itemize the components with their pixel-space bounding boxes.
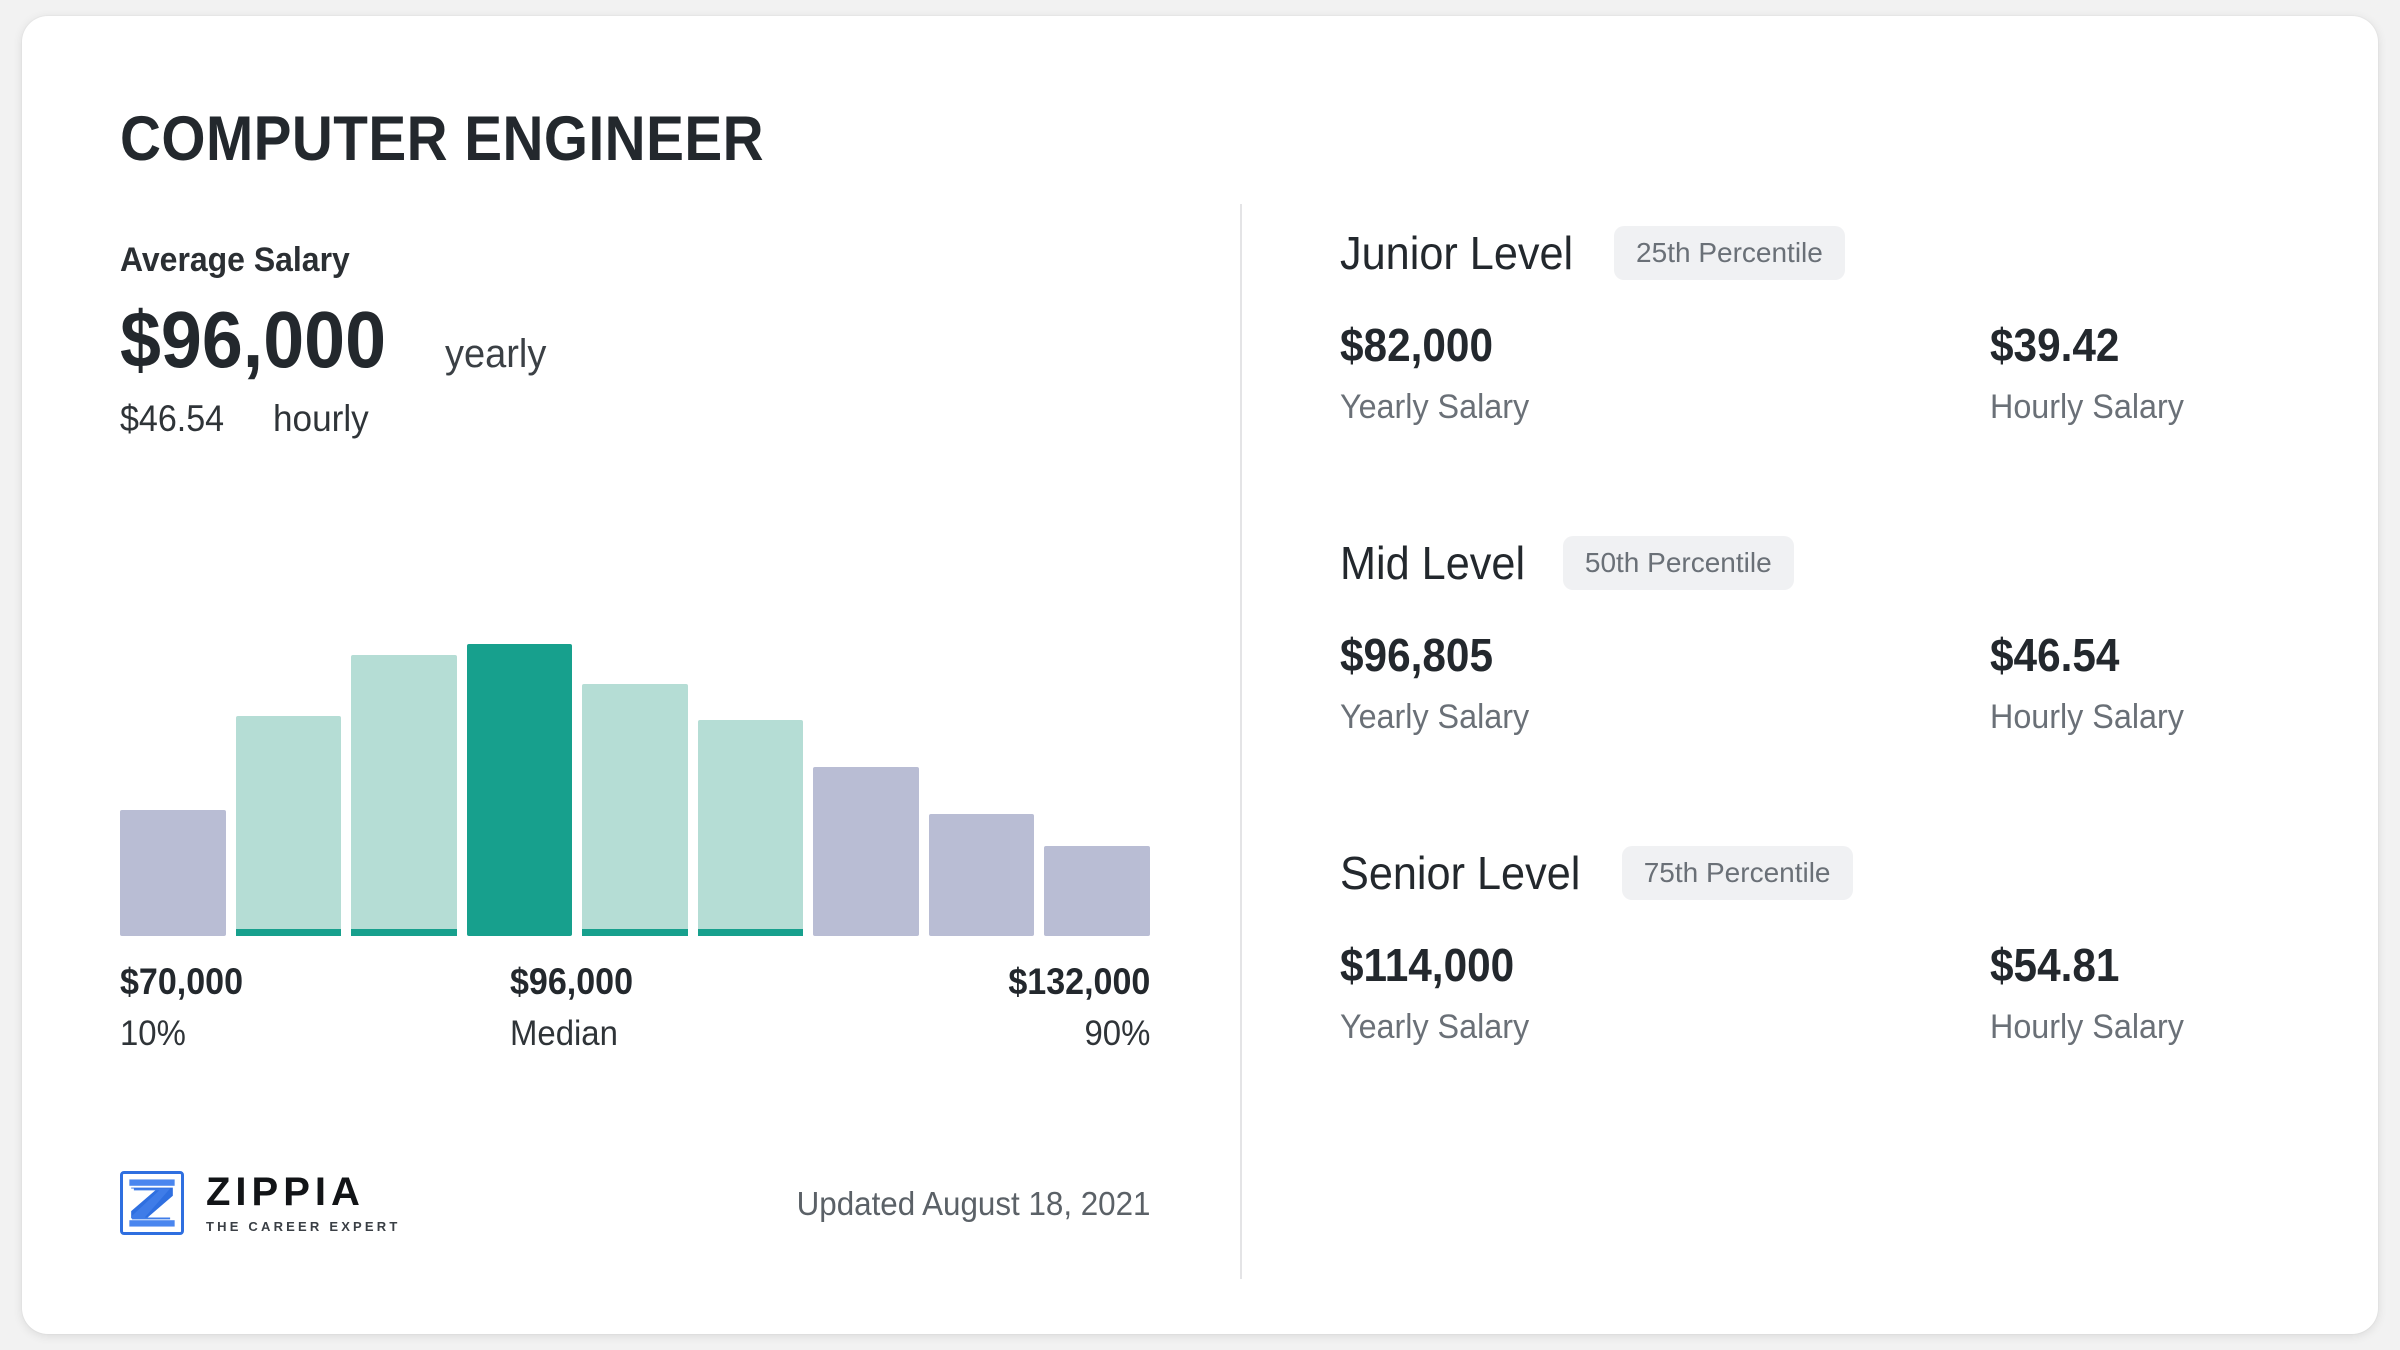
- chart-bar: [120, 810, 226, 936]
- chart-bar: [467, 644, 573, 936]
- chart-bar: [813, 767, 919, 936]
- salary-card: COMPUTER ENGINEER Average Salary $96,000…: [22, 16, 2378, 1334]
- hourly-salary-cell: $54.81Hourly Salary: [1990, 942, 2194, 1044]
- hourly-salary-cell: $39.42Hourly Salary: [1990, 322, 2194, 424]
- yearly-salary-label: Yearly Salary: [1340, 390, 1958, 424]
- yearly-salary-label: Yearly Salary: [1340, 1010, 1958, 1044]
- hourly-salary-label: Hourly Salary: [1990, 390, 2184, 424]
- chart-bar-body: [813, 767, 919, 936]
- zippia-wordmark: ZIPPIA THE CAREER EXPERT: [206, 1172, 401, 1234]
- hourly-salary-cell: $46.54Hourly Salary: [1990, 632, 2194, 734]
- hourly-salary-label: Hourly Salary: [1990, 1010, 2184, 1044]
- chart-bar-body: [929, 814, 1035, 936]
- updated-date: Updated August 18, 2021: [796, 1185, 1150, 1223]
- yearly-salary-cell: $114,000Yearly Salary: [1340, 942, 1990, 1044]
- axis-tick-high: $132,000 90%: [996, 961, 1150, 1055]
- chart-bar: [236, 716, 342, 936]
- average-yearly-unit: yearly: [445, 334, 546, 374]
- percentile-badge: 50th Percentile: [1563, 536, 1794, 590]
- axis-high-label: 90%: [1005, 1012, 1150, 1056]
- yearly-salary-cell: $82,000Yearly Salary: [1340, 322, 1990, 424]
- average-salary-label: Average Salary: [120, 241, 1163, 280]
- chart-bar-body: [351, 655, 457, 936]
- axis-tick-low: $70,000 10%: [120, 961, 254, 1055]
- experience-level-header: Mid Level50th Percentile: [1340, 536, 2290, 590]
- yearly-salary-label: Yearly Salary: [1340, 700, 1958, 734]
- chart-bar-body: [467, 644, 573, 936]
- experience-level-values: $114,000Yearly Salary$54.81Hourly Salary: [1340, 942, 2290, 1044]
- hourly-salary-label: Hourly Salary: [1990, 700, 2184, 734]
- average-yearly-amount: $96,000: [120, 300, 386, 380]
- experience-level-name: Senior Level: [1340, 850, 1580, 896]
- axis-low-amount: $70,000: [120, 961, 243, 1004]
- chart-bar: [582, 684, 688, 936]
- experience-level-name: Junior Level: [1340, 230, 1573, 276]
- vertical-divider: [1240, 204, 1242, 1279]
- experience-level-block: Mid Level50th Percentile$96,805Yearly Sa…: [1340, 536, 2290, 734]
- chart-bar-underline: [236, 929, 342, 936]
- yearly-salary-amount: $114,000: [1340, 942, 1938, 988]
- axis-mid-amount: $96,000: [510, 961, 633, 1004]
- chart-bar: [351, 655, 457, 936]
- experience-level-values: $96,805Yearly Salary$46.54Hourly Salary: [1340, 632, 2290, 734]
- yearly-salary-amount: $82,000: [1340, 322, 1938, 368]
- chart-bars: [120, 576, 1150, 936]
- experience-level-header: Senior Level75th Percentile: [1340, 846, 2290, 900]
- experience-level-name: Mid Level: [1340, 540, 1525, 586]
- average-hourly-row: $46.54 hourly: [120, 398, 1230, 440]
- experience-level-block: Senior Level75th Percentile$114,000Yearl…: [1340, 846, 2290, 1044]
- experience-level-block: Junior Level25th Percentile$82,000Yearly…: [1340, 226, 2290, 424]
- chart-bar-body: [582, 684, 688, 936]
- chart-axis-labels: $70,000 10% $96,000 Median $132,000 90%: [120, 961, 1150, 1071]
- chart-bar-body: [698, 720, 804, 936]
- percentile-badge: 25th Percentile: [1614, 226, 1845, 280]
- chart-bar-body: [236, 716, 342, 936]
- yearly-salary-cell: $96,805Yearly Salary: [1340, 632, 1990, 734]
- axis-low-label: 10%: [120, 1012, 246, 1056]
- chart-bar-underline: [582, 929, 688, 936]
- page-title: COMPUTER ENGINEER: [120, 108, 764, 171]
- chart-bar-body: [1044, 846, 1150, 936]
- zippia-tagline: THE CAREER EXPERT: [206, 1219, 401, 1234]
- axis-high-amount: $132,000: [1008, 961, 1150, 1004]
- hourly-salary-amount: $46.54: [1990, 632, 2178, 678]
- zippia-logo[interactable]: ZIPPIA THE CAREER EXPERT: [120, 1171, 401, 1235]
- average-hourly-unit: hourly: [273, 398, 369, 440]
- average-salary-section: Average Salary $96,000 yearly $46.54 hou…: [120, 241, 1230, 440]
- chart-bar: [929, 814, 1035, 936]
- chart-bar-body: [120, 810, 226, 936]
- yearly-salary-amount: $96,805: [1340, 632, 1938, 678]
- chart-bar-underline: [698, 929, 804, 936]
- axis-mid-label: Median: [510, 1012, 636, 1056]
- card-footer: ZIPPIA THE CAREER EXPERT Updated August …: [120, 1171, 1150, 1261]
- page-background: COMPUTER ENGINEER Average Salary $96,000…: [0, 0, 2400, 1350]
- experience-levels-panel: Junior Level25th Percentile$82,000Yearly…: [1340, 226, 2290, 1044]
- percentile-badge: 75th Percentile: [1622, 846, 1853, 900]
- chart-bar: [1044, 846, 1150, 936]
- hourly-salary-amount: $54.81: [1990, 942, 2178, 988]
- zippia-z-logo-icon: [120, 1171, 184, 1235]
- experience-level-header: Junior Level25th Percentile: [1340, 226, 2290, 280]
- zippia-name: ZIPPIA: [206, 1172, 401, 1212]
- chart-bar-underline: [351, 929, 457, 936]
- experience-level-values: $82,000Yearly Salary$39.42Hourly Salary: [1340, 322, 2290, 424]
- average-salary-row: $96,000 yearly: [120, 288, 1230, 380]
- salary-distribution-chart: [120, 576, 1150, 936]
- chart-bar: [698, 720, 804, 936]
- average-hourly-amount: $46.54: [120, 398, 224, 440]
- hourly-salary-amount: $39.42: [1990, 322, 2178, 368]
- axis-tick-median: $96,000 Median: [510, 961, 644, 1055]
